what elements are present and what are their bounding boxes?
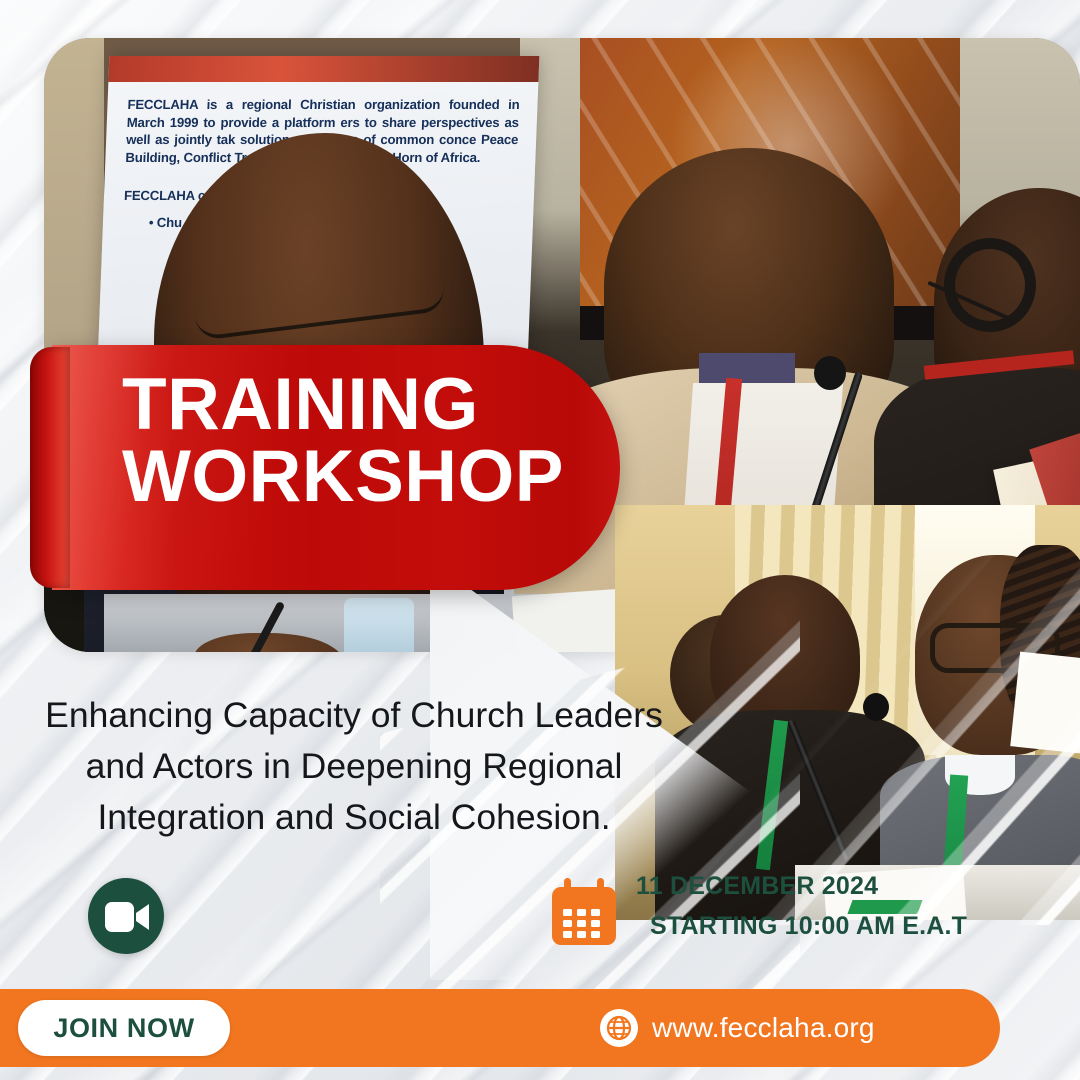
ribbon-left-fold [30, 347, 70, 588]
name-card [1010, 652, 1080, 754]
ribbon-title: TRAINING WORKSHOP [122, 369, 622, 514]
training-workshop-ribbon: TRAINING WORKSHOP [30, 345, 620, 590]
water-bottle [344, 598, 414, 652]
website-link[interactable]: www.fecclaha.org [652, 1012, 875, 1044]
schedule-text: 11 DECEMBER 2024 STARTING 10:00 AM E.A.T [636, 872, 967, 941]
ribbon-title-line-1: TRAINING [122, 369, 622, 441]
event-time: STARTING 10:00 AM E.A.T [636, 912, 967, 941]
headline-line-2: and Actors in Deepening Regional [24, 741, 684, 792]
globe-icon [600, 1009, 638, 1047]
join-now-button[interactable]: JOIN NOW [18, 1000, 230, 1056]
microphone-head [814, 356, 846, 390]
poster-canvas: FECCLAHA is a regional Christian organiz… [0, 0, 1080, 1080]
rollup-banner-header [108, 56, 539, 82]
page-title: Enhancing Capacity of Church Leaders and… [24, 690, 684, 843]
seated-delegates-photo [615, 505, 1080, 920]
headline-line-3: Integration and Social Cohesion. [24, 792, 684, 843]
event-date: 11 DECEMBER 2024 [636, 872, 967, 901]
schedule-block: 11 DECEMBER 2024 STARTING 10:00 AM E.A.T [548, 872, 968, 962]
headline-line-1: Enhancing Capacity of Church Leaders [24, 690, 684, 741]
ribbon-title-line-2: WORKSHOP [122, 441, 622, 513]
headset-earpiece [944, 238, 1036, 332]
calendar-icon [548, 878, 620, 952]
microphone-head-secondary [863, 693, 889, 721]
photo-secondary-backdrop [615, 505, 1080, 920]
video-camera-icon [88, 878, 164, 954]
